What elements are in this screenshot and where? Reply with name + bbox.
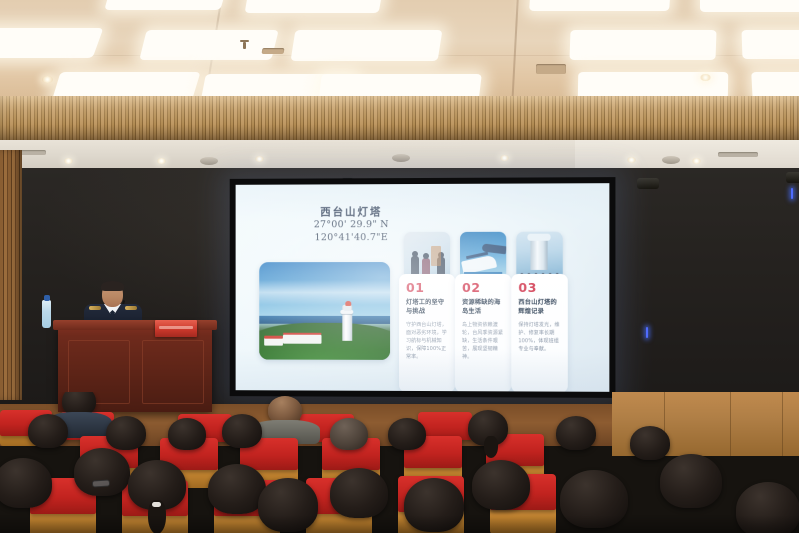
soffit-downlight [692,158,701,164]
card-heading: 灯塔工的坚守与挑战 [406,299,450,316]
audience-head [0,458,52,508]
ceiling-downlight [700,74,711,81]
card-body-text: 岛上物资依赖渡轮，台风季资源紧缺，生活条件艰苦，展现坚韧精神。 [462,321,506,361]
card-heading: 西台山灯塔的辉煌记录 [518,299,562,316]
hero-lighthouse-red-cap [345,301,351,306]
lecture-hall-scene: 西台山灯塔 27°00' 29.9" N 120°41'40.7"E [0,0,799,533]
audience-head [28,414,68,448]
card-number: 03 [518,280,537,295]
slide-card-03: 03 西台山灯塔的辉煌记录 保持灯塔发光，维护、修复率长期100%，体现班组专业… [511,274,568,392]
thumb-lighthouse-tower [530,236,547,270]
name-placard [155,320,197,337]
ceiling-light-panel [0,28,103,58]
soffit-downlight [157,158,166,164]
audience-ponytail [484,436,498,458]
audience-head [168,418,206,450]
status-led-indicator [791,188,793,199]
soffit-downlight [627,157,636,163]
thumb-person-head [412,251,418,257]
hero-building [264,338,282,346]
eyeglasses-icon [92,479,110,487]
ceiling-downlight [42,76,53,83]
ceiling-light-panel [245,0,384,13]
slide-coordinate-latitude: 27°00' 29.9" N [277,219,426,232]
audience-head [388,418,426,450]
ceiling-seam [511,0,518,103]
soffit-vent [718,152,758,157]
sprinkler-icon [243,42,246,49]
status-led-indicator [646,327,648,338]
audience-head [660,454,722,508]
audience-head [472,460,530,510]
ceiling-light-panel [741,30,799,59]
ceiling-light-panel [700,0,799,12]
ceiling-projector [786,172,799,183]
ceiling-projector [637,178,659,189]
presenter-epaulet-left [89,306,101,310]
card-number: 02 [462,280,481,295]
audience-head [222,414,262,448]
ceiling-light-panel [529,0,671,11]
slide-card-02: 02 资源稀缺的海岛生活 岛上物资依赖渡轮，台风季资源紧缺，生活条件艰苦，展现坚… [455,274,511,392]
soffit-downlight [64,158,73,164]
soffit-vent [20,150,46,155]
presenter-hair [101,281,124,291]
soffit-downlight [500,155,509,161]
card-body-text: 保持灯塔发光，维护、修复率长期100%，体现班组专业与奉献。 [518,321,562,353]
hero-building-roof [264,336,282,339]
audience-head [106,416,146,450]
audience-head [330,468,388,518]
slide-hero-photo [259,262,390,360]
ceiling-speaker-icon [662,156,680,164]
soffit-downlight [255,156,264,162]
card-number: 01 [406,280,425,295]
thumb-person-head [423,253,429,259]
slide-card-01: 01 灯塔工的坚守与挑战 守护西台山灯塔，面对恶劣环境，学习航标与机械知识，保障… [399,274,455,392]
ceiling-light-panel [569,30,716,60]
card-heading: 资源稀缺的海岛生活 [462,299,506,316]
ceiling-speaker-icon [200,157,218,165]
wood-wall-pillar [0,150,22,400]
water-bottle [42,300,51,328]
ceiling-speaker-icon [392,154,410,162]
hero-cloud-streak [259,280,390,305]
ceiling [0,0,799,103]
thumb-lighthouse-top [527,234,550,241]
audience-head [630,426,670,460]
ceiling-light-panel [104,0,227,10]
hero-building [283,334,322,344]
presenter-epaulet-right [125,306,137,310]
seated-audience [0,392,799,533]
projection-screen-surface: 西台山灯塔 27°00' 29.9" N 120°41'40.7"E [236,183,610,392]
card-body-text: 守护西台山灯塔，面对恶劣环境，学习航标与机械知识，保障100%正常率。 [406,321,450,361]
projection-screen: 西台山灯塔 27°00' 29.9" N 120°41'40.7"E [230,177,616,398]
hair-tie [152,502,161,507]
audience-head [556,416,596,450]
ceiling-light-panel [139,30,278,60]
ceiling-light-panel [291,30,443,61]
audience-head [74,448,130,496]
foreground-shadow [0,515,799,533]
water-bottle-cap [44,295,50,301]
ceiling-air-vent [536,64,566,74]
placard-text-line [159,326,193,329]
audience-head [330,418,368,450]
ceiling-air-vent [261,48,284,54]
slide-title-chinese: 西台山灯塔 [277,206,426,219]
thumb-shelf [431,246,441,266]
